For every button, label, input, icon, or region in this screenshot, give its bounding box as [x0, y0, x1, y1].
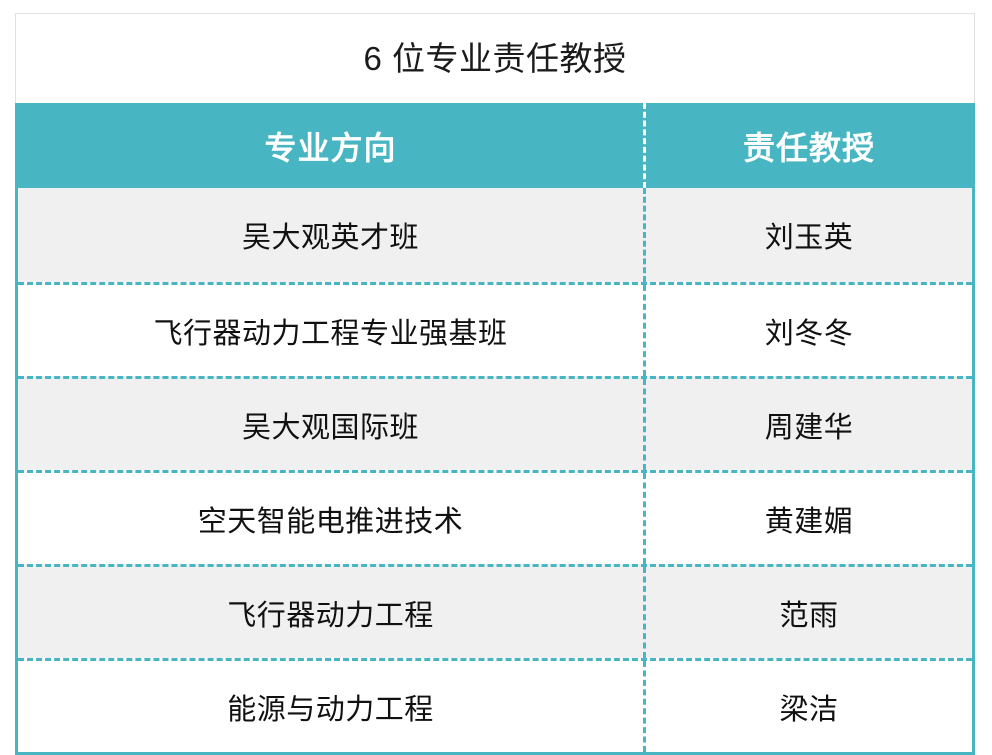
cell-professor-text: 刘玉英: [765, 214, 854, 256]
table-grid: 专业方向 责任教授 吴大观英才班 刘玉英 飞行器动力工程专业强基班 刘冬冬: [15, 103, 975, 755]
cell-professor-text: 黄建媚: [765, 498, 854, 540]
cell-professor: 梁洁: [646, 661, 972, 752]
table-header-row: 专业方向 责任教授: [18, 103, 972, 188]
cell-professor-text: 梁洁: [779, 686, 838, 728]
cell-professor: 范雨: [646, 567, 972, 658]
cell-direction-text: 飞行器动力工程: [227, 592, 434, 634]
cell-direction: 空天智能电推进技术: [18, 473, 646, 564]
column-header-direction-label: 专业方向: [264, 123, 396, 169]
cell-direction: 吴大观国际班: [18, 379, 646, 470]
cell-direction: 飞行器动力工程专业强基班: [18, 285, 646, 376]
table-row: 飞行器动力工程专业强基班 刘冬冬: [18, 282, 972, 376]
cell-direction-text: 吴大观国际班: [242, 404, 419, 446]
table-row: 空天智能电推进技术 黄建媚: [18, 470, 972, 564]
cell-professor-text: 刘冬冬: [765, 310, 854, 352]
table-row: 吴大观英才班 刘玉英: [18, 188, 972, 282]
table-row: 能源与动力工程 梁洁: [18, 658, 972, 752]
table-row: 飞行器动力工程 范雨: [18, 564, 972, 658]
cell-professor-text: 范雨: [779, 592, 838, 634]
cell-direction: 飞行器动力工程: [18, 567, 646, 658]
cell-direction: 吴大观英才班: [18, 188, 646, 282]
column-header-professor: 责任教授: [646, 103, 972, 188]
table-row: 吴大观国际班 周建华: [18, 376, 972, 470]
cell-direction: 能源与动力工程: [18, 661, 646, 752]
cell-direction-text: 飞行器动力工程专业强基班: [153, 310, 507, 352]
column-header-direction: 专业方向: [18, 103, 646, 188]
table-caption: 6 位专业责任教授: [15, 13, 975, 103]
cell-professor-text: 周建华: [765, 404, 854, 446]
cell-direction-text: 空天智能电推进技术: [198, 498, 464, 540]
column-header-professor-label: 责任教授: [743, 123, 875, 169]
professor-assignment-table: 6 位专业责任教授 专业方向 责任教授 吴大观英才班 刘玉英 飞行器动力工程专业…: [15, 13, 975, 752]
table-caption-text: 6 位专业责任教授: [363, 42, 626, 75]
cell-direction-text: 吴大观英才班: [242, 214, 419, 256]
cell-professor: 周建华: [646, 379, 972, 470]
cell-professor: 刘冬冬: [646, 285, 972, 376]
cell-professor: 刘玉英: [646, 188, 972, 282]
cell-professor: 黄建媚: [646, 473, 972, 564]
cell-direction-text: 能源与动力工程: [227, 686, 434, 728]
